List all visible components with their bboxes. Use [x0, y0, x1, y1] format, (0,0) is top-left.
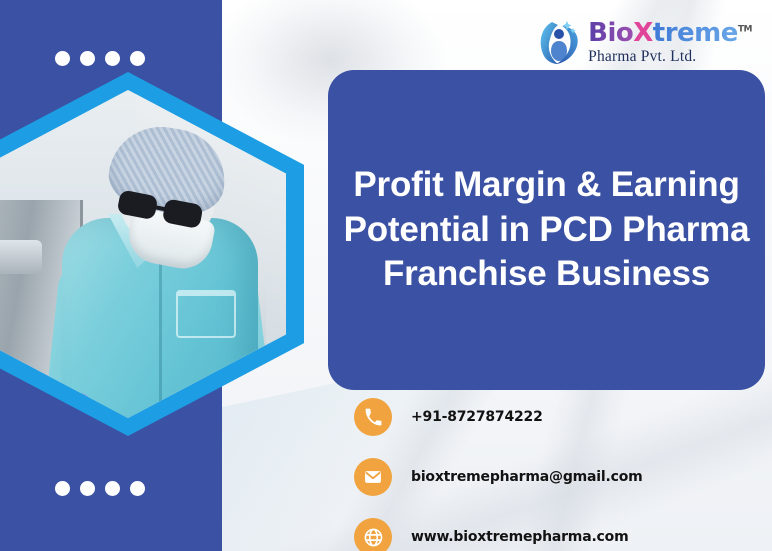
poster-canvas: Profit Margin & Earning Potential in PCD…: [0, 0, 772, 551]
logo-tagline: Pharma Pvt. Ltd.: [588, 49, 752, 65]
email-address: bioxtremepharma@gmail.com: [411, 469, 643, 485]
dot: [130, 481, 145, 496]
dot: [130, 51, 145, 66]
contact-row-phone[interactable]: +91-8727874222: [354, 398, 643, 436]
contact-row-email[interactable]: bioxtremepharma@gmail.com: [354, 458, 643, 496]
dot: [55, 51, 70, 66]
person-swoosh-icon: [538, 18, 582, 66]
dot: [80, 481, 95, 496]
dot: [80, 51, 95, 66]
globe-icon: [354, 518, 392, 551]
headline-card: Profit Margin & Earning Potential in PCD…: [328, 70, 765, 390]
logo-wordmark: BioXtremeTM Pharma Pvt. Ltd.: [588, 20, 752, 65]
logo-word-bio: Bio: [588, 18, 633, 48]
phone-number: +91-8727874222: [411, 409, 543, 425]
logo-letter-x: X: [633, 18, 653, 48]
decorative-dots-bottom: [55, 481, 145, 496]
page-title: Profit Margin & Earning Potential in PCD…: [328, 163, 765, 297]
decorative-dots-top: [55, 51, 145, 66]
logo-word-treme: treme: [653, 18, 738, 48]
brand-logo[interactable]: BioXtremeTM Pharma Pvt. Ltd.: [538, 14, 752, 70]
email-icon: [354, 458, 392, 496]
website-url: www.bioxtremepharma.com: [411, 529, 628, 545]
hero-hexagon: [0, 72, 304, 436]
coat-pocket: [176, 290, 236, 338]
contact-block: +91-8727874222 bioxtremepharma@gmail.com…: [354, 398, 643, 551]
contact-row-website[interactable]: www.bioxtremepharma.com: [354, 518, 643, 551]
dot: [105, 51, 120, 66]
logo-name-line: BioXtremeTM: [588, 20, 752, 46]
dot: [55, 481, 70, 496]
logo-trademark: TM: [738, 24, 752, 34]
dot: [105, 481, 120, 496]
phone-icon: [354, 398, 392, 436]
